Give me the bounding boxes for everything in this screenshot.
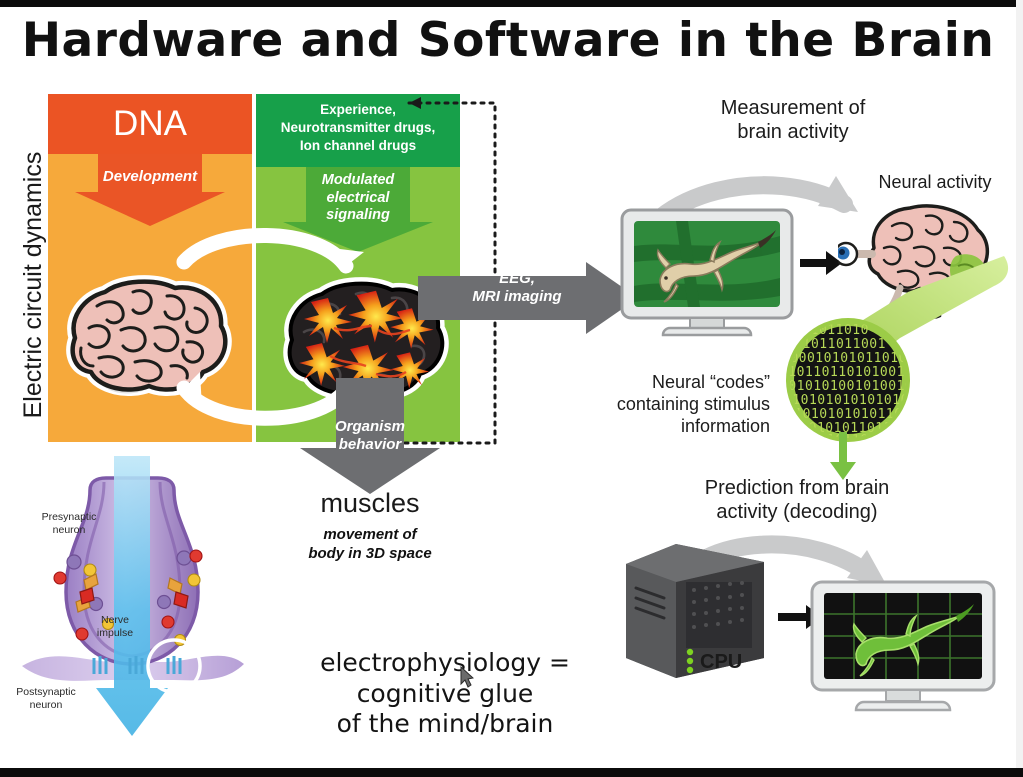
cpu-label: CPU <box>700 651 742 673</box>
development-label: Development <box>48 168 252 185</box>
decoding-down-arrow-icon <box>828 432 858 480</box>
codes-line-2: containing stimulus <box>580 394 770 416</box>
codes-line-3: information <box>580 416 770 438</box>
presynaptic-line-2: neuron <box>32 524 106 537</box>
presynaptic-line-1: Presynaptic <box>32 511 106 524</box>
measurement-line-1: Measurement of <box>683 96 903 120</box>
muscles-sub-line-1: movement of <box>275 525 465 544</box>
binary-row-4: 0101101101010011010 <box>780 365 938 380</box>
organism-behavior-label: Organism behavior <box>305 418 435 455</box>
presynaptic-neuron-label: Presynaptic neuron <box>32 511 106 536</box>
codes-line-1: Neural “codes” <box>580 372 770 394</box>
eeg-line-1: EEG, <box>452 270 582 288</box>
nerve-impulse-label: Nerve impulse <box>84 614 146 639</box>
slogan-line-1: electrophysiology = <box>300 648 590 679</box>
binary-row-5: 1010101001010010110 <box>780 379 938 394</box>
postsynaptic-line-1: Postsynaptic <box>10 686 82 699</box>
mouse-cursor-icon <box>460 666 474 688</box>
prediction-label: Prediction from brain activity (decoding… <box>672 476 922 525</box>
slogan-line-3: of the mind/brain <box>300 709 590 740</box>
neural-code-cone-icon: 101011010 101011011001 1000101010110101 … <box>768 246 1018 446</box>
binary-row-3: 1000101010110101 <box>782 351 915 366</box>
normal-brain-icon <box>55 272 235 402</box>
eeg-line-2: MRI imaging <box>452 288 582 306</box>
postsynaptic-neuron-label: Postsynaptic neuron <box>10 686 82 711</box>
bottom-border-bar <box>0 768 1023 777</box>
measurement-line-2: brain activity <box>683 120 903 144</box>
cpu-tower-icon: CPU <box>620 540 770 680</box>
hardware-panel-header: DNA <box>48 94 252 154</box>
organism-line-2: behavior <box>305 436 435 454</box>
prediction-line-1: Prediction from brain <box>672 476 922 500</box>
slogan-text: electrophysiology = cognitive glue of th… <box>300 648 590 740</box>
prediction-line-2: activity (decoding) <box>672 500 922 524</box>
muscles-label: muscles <box>285 488 455 519</box>
eeg-mri-label: EEG, MRI imaging <box>452 270 582 306</box>
impulse-line-2: impulse <box>84 627 146 640</box>
top-border-bar <box>0 0 1023 7</box>
dna-label: DNA <box>48 94 252 154</box>
development-arrow-icon <box>75 154 225 226</box>
muscles-sub-line-2: body in 3D space <box>275 544 465 563</box>
decoded-monitor-icon <box>808 578 998 716</box>
page-title: Hardware and Software in the Brain <box>0 8 1016 72</box>
vertical-axis-label: Electric circuit dynamics <box>16 100 50 470</box>
slide-canvas: Hardware and Software in the Brain Elect… <box>0 0 1023 777</box>
muscles-sublabel: movement of body in 3D space <box>275 525 465 563</box>
neural-codes-label: Neural “codes” containing stimulus infor… <box>580 372 770 438</box>
slogan-line-2: cognitive glue <box>300 679 590 710</box>
postsynaptic-line-2: neuron <box>10 699 82 712</box>
organism-line-1: Organism <box>305 418 435 436</box>
measurement-label: Measurement of brain activity <box>683 96 903 145</box>
impulse-line-1: Nerve <box>84 614 146 627</box>
